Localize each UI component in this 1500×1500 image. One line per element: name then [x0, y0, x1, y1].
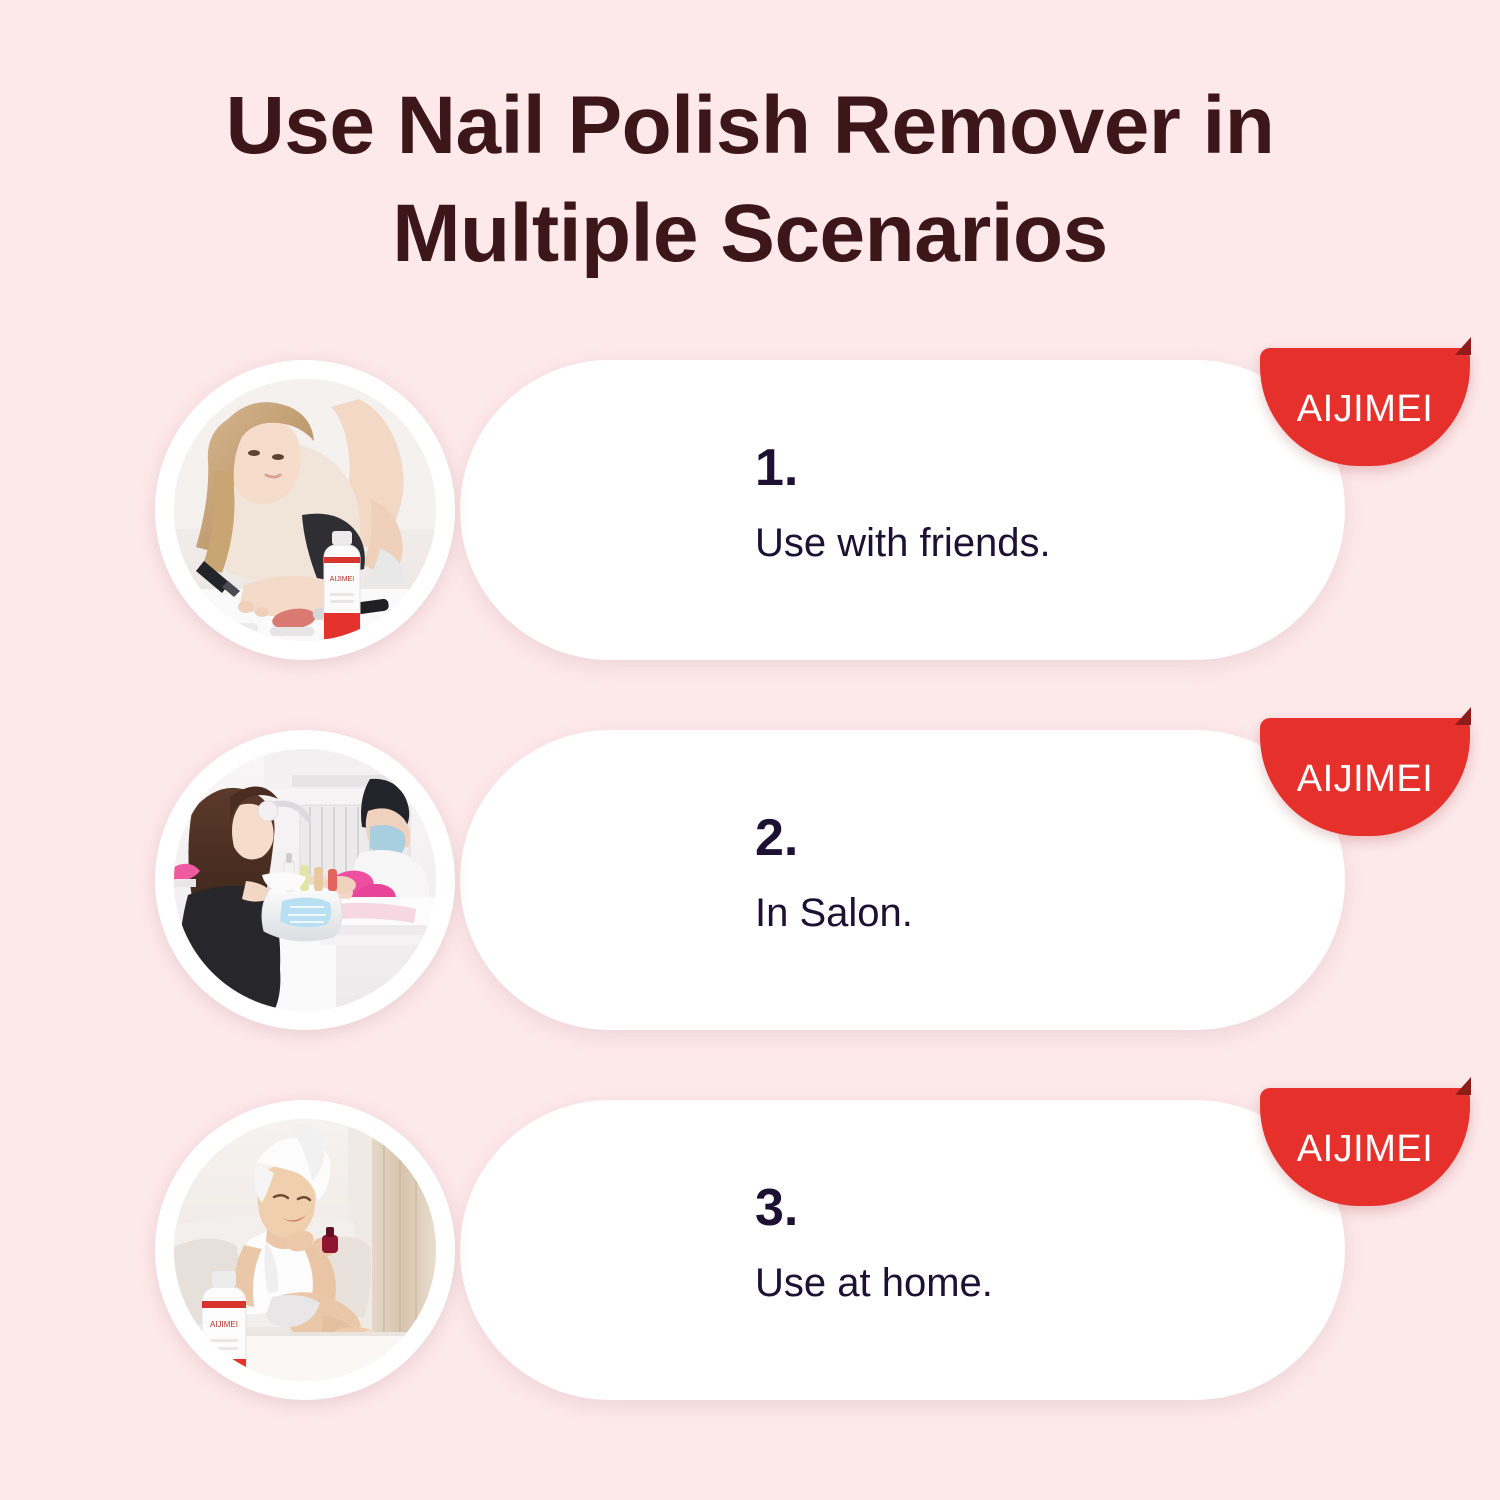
scenario-caption: In Salon.	[755, 890, 1225, 936]
brand-badge: AIJIMEI	[1260, 718, 1470, 836]
brand-badge: AIJIMEI	[1260, 1088, 1470, 1206]
brand-badge-label: AIJIMEI	[1260, 1130, 1470, 1168]
badge-fold-icon	[1455, 707, 1471, 725]
scenario-caption: Use at home.	[755, 1260, 1225, 1306]
scenario-photo-2	[155, 730, 455, 1030]
scenario-caption: Use with friends.	[755, 520, 1225, 566]
brand-badge: AIJIMEI	[1260, 348, 1470, 466]
badge-fold-icon	[1455, 337, 1471, 355]
svg-text:AIJIMEI: AIJIMEI	[210, 1320, 238, 1329]
scenario-photo-1-image: AIJIMEI	[174, 379, 436, 641]
scenario-list: 1. Use with friends. AIJIMEI	[0, 0, 1500, 1500]
scenario-card-1-text: 1. Use with friends.	[755, 442, 1225, 566]
scenario-card-1[interactable]: 1. Use with friends. AIJIMEI	[460, 360, 1345, 660]
list-item: 3. Use at home. AIJIMEI	[155, 1100, 1345, 1400]
scenario-photo-3-image: AIJIMEI	[174, 1119, 436, 1381]
scenario-card-2-text: 2. In Salon.	[755, 812, 1225, 936]
list-item: 2. In Salon. AIJIMEI	[155, 730, 1345, 1030]
scenario-number: 3.	[755, 1182, 1225, 1234]
list-item: 1. Use with friends. AIJIMEI	[155, 360, 1345, 660]
scenario-card-3-text: 3. Use at home.	[755, 1182, 1225, 1306]
svg-text:AIJIMEI: AIJIMEI	[330, 576, 355, 583]
brand-badge-label: AIJIMEI	[1260, 390, 1470, 428]
scenario-number: 2.	[755, 812, 1225, 864]
scenario-card-2[interactable]: 2. In Salon. AIJIMEI	[460, 730, 1345, 1030]
brand-badge-label: AIJIMEI	[1260, 760, 1470, 798]
badge-fold-icon	[1455, 1077, 1471, 1095]
scenario-card-3[interactable]: 3. Use at home. AIJIMEI	[460, 1100, 1345, 1400]
scenario-photo-3: AIJIMEI	[155, 1100, 455, 1400]
scenario-photo-1: AIJIMEI	[155, 360, 455, 660]
scenario-number: 1.	[755, 442, 1225, 494]
scenario-photo-2-image	[174, 749, 436, 1011]
